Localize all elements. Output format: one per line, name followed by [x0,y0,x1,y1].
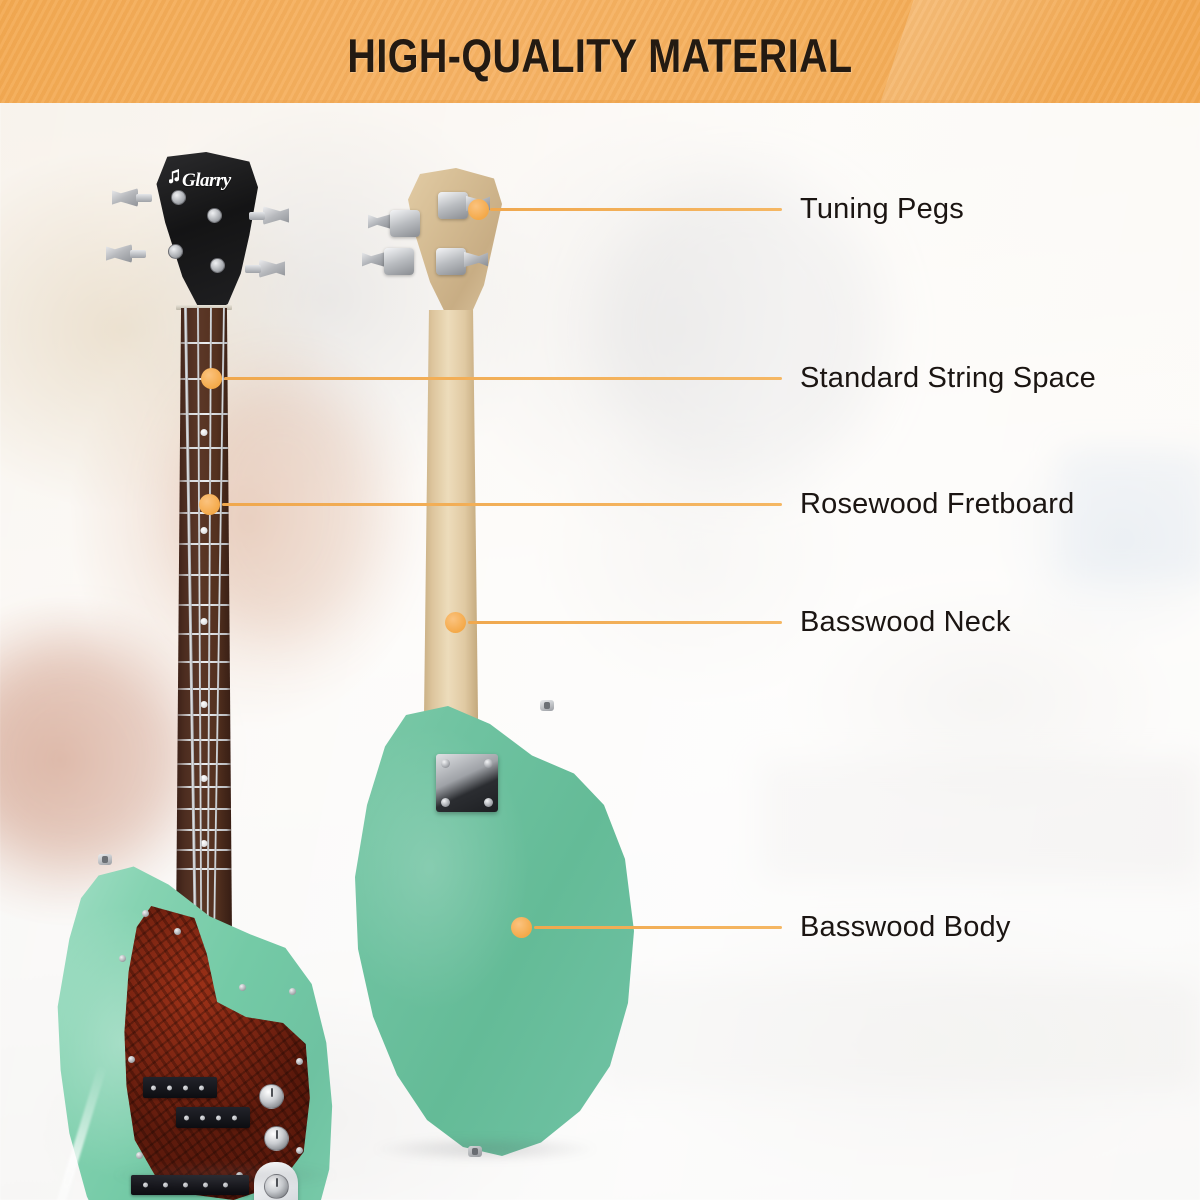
pickup-pole [200,1115,205,1120]
string-post-button [168,244,183,259]
fret [176,633,232,635]
pickguard-screw [119,955,126,962]
callout-label-standard-string-space: Standard String Space [800,362,1096,395]
fret [176,714,232,716]
fret-inlay-dot [201,429,208,436]
fret [176,661,232,663]
fret-inlay-dot [201,527,208,534]
neck-plate-screw [441,798,450,807]
fretboard-front [176,308,232,936]
fret-inlay-dot [201,701,208,708]
tuning-key-back [368,212,392,231]
bass-guitar-front-view: Glarry [0,140,360,1200]
callout-dot-basswood-neck [445,612,466,633]
pickguard-screw [239,984,246,991]
fret [176,543,232,545]
fret [176,574,232,576]
tuning-key-back [464,250,488,269]
pickguard-screw [136,1152,143,1159]
neck-pickup-upper [143,1077,217,1098]
tuning-peg [112,187,152,208]
callout-line-standard-string-space [224,377,782,380]
string-post-button [207,208,222,223]
front-guitar-shadow [110,1162,340,1188]
callout-dot-basswood-body [511,917,532,938]
header-banner: HIGH-QUALITY MATERIAL [0,0,1200,103]
tuning-post [249,212,265,220]
tuning-peg [106,243,146,264]
fret [176,786,232,788]
pickguard-screw [128,1056,135,1063]
infographic-canvas: HIGH-QUALITY MATERIAL Glarry [0,0,1200,1200]
fret [176,829,232,831]
callout-line-rosewood-fretboard [222,503,782,506]
fret [176,739,232,741]
callout-label-rosewood-fretboard: Rosewood Fretboard [800,488,1074,521]
tuning-machine-back [362,248,414,278]
tuning-peg [245,258,285,279]
callout-dot-tuning-pegs [468,199,489,220]
string-post-button [210,258,225,273]
tuning-machine-back [368,210,420,240]
tuning-key [259,258,285,279]
string-post-button [171,190,186,205]
tuning-peg [249,205,289,226]
pickup-pole [199,1085,204,1090]
pickup-pole [167,1085,172,1090]
neck-pickup-lower [176,1107,250,1128]
music-note-icon [169,169,181,184]
back-guitar-shadow [370,1136,600,1162]
tuning-key [263,205,289,226]
guitar-body-front [46,862,338,1200]
page-title: HIGH-QUALITY MATERIAL [96,28,1104,83]
brand-logo: Glarry [182,170,231,192]
tuning-key [106,243,132,264]
pickguard-screw [174,928,181,935]
fret [176,808,232,810]
callout-line-tuning-pegs [490,208,782,211]
tuning-post [245,265,261,273]
fret [176,447,232,449]
callout-line-basswood-neck [468,621,782,624]
pickguard-screw [289,988,296,995]
bass-guitar-back-view [330,150,660,1150]
fret [176,413,232,415]
fret-inlay-dot [201,618,208,625]
fret [176,480,232,482]
tone-knob[interactable] [264,1126,289,1151]
pickup-pole [183,1085,188,1090]
fret [176,688,232,690]
tuner-plate [438,192,468,219]
pickguard-screw [142,910,149,917]
callout-label-tuning-pegs: Tuning Pegs [800,193,964,226]
pickup-pole [184,1115,189,1120]
callout-dot-standard-string-space [201,368,222,389]
pickup-pole [151,1085,156,1090]
banner-bottom-edge [0,100,1200,103]
neck-plate-screw [441,759,450,768]
pickguard-screw [296,1147,303,1154]
pickguard-screw [296,1058,303,1065]
neck-plate-screw [484,798,493,807]
strap-button-upper [540,700,554,711]
callout-dot-rosewood-fretboard [199,494,220,515]
strap-button-upper [98,854,112,865]
fret [176,763,232,765]
tuning-key-back [362,250,386,269]
pickup-pole [216,1115,221,1120]
fret [176,604,232,606]
callout-label-basswood-neck: Basswood Neck [800,606,1011,639]
tuner-plate [384,248,414,275]
volume-knob[interactable] [259,1084,284,1109]
fret [176,849,232,851]
tuner-plate [436,248,466,275]
tuning-machine-back [436,248,488,278]
callout-line-basswood-body [534,926,782,929]
neck-joint-plate [436,754,498,812]
headstock-back [402,168,502,318]
tuning-post [136,194,152,202]
guitar-body-back [340,706,640,1156]
tuner-plate [390,210,420,237]
callout-label-basswood-body: Basswood Body [800,911,1011,944]
neck-plate-screw [484,759,493,768]
pickup-pole [232,1115,237,1120]
tuning-post [130,250,146,258]
tuning-key [112,187,138,208]
